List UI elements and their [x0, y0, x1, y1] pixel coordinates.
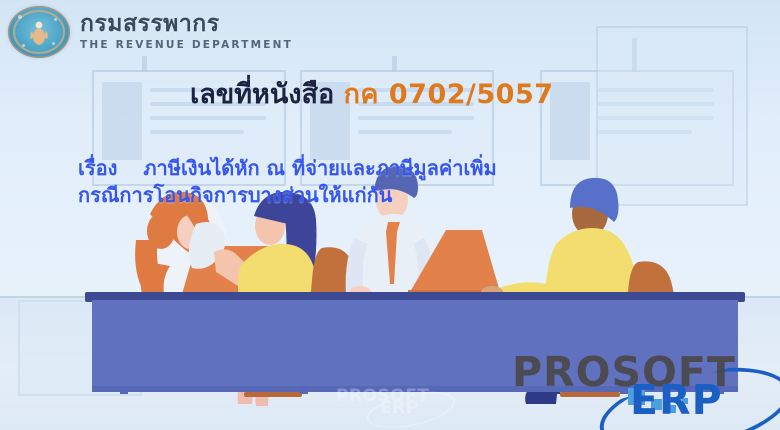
seal-highlight [54, 18, 57, 21]
watermark-faint: PROSOFT ERP [336, 386, 468, 426]
subject-line-1: ภาษีเงินได้หัก ณ ที่จ่ายและภาษีมูลค่าเพิ… [143, 156, 496, 180]
brand-name-english: THE REVENUE DEPARTMENT [80, 40, 293, 51]
table-leg [300, 386, 308, 394]
logo-text-erp: ERP [630, 380, 723, 421]
prosoft-erp-logo: PROSOFT ERP [512, 352, 774, 430]
table-leg [120, 386, 128, 394]
document-number: กค 0702/5057 [344, 79, 554, 110]
document-subject: เรื่องภาษีเงินได้หัก ณ ที่จ่ายและภาษีมูล… [78, 155, 497, 209]
brand-text-block: กรมสรรพากร THE REVENUE DEPARTMENT [80, 13, 293, 51]
subject-line-2: กรณีการโอนกิจการบางส่วนให้แก่กัน [78, 183, 392, 207]
revenue-department-seal-icon [8, 6, 70, 58]
seal-figure-icon [28, 19, 50, 45]
slide-canvas: กรมสรรพากร THE REVENUE DEPARTMENT เลขที่… [0, 0, 780, 430]
revenue-department-header: กรมสรรพากร THE REVENUE DEPARTMENT [8, 6, 293, 58]
headline-label: เลขที่หนังสือ [190, 79, 334, 110]
subject-prefix: เรื่อง [78, 156, 117, 180]
brand-name-thai: กรมสรรพากร [80, 13, 293, 36]
seal-highlight [18, 15, 22, 19]
seal-highlight [52, 42, 55, 45]
document-headline: เลขที่หนังสือ กค 0702/5057 [190, 80, 554, 110]
seal-highlight [22, 44, 25, 47]
